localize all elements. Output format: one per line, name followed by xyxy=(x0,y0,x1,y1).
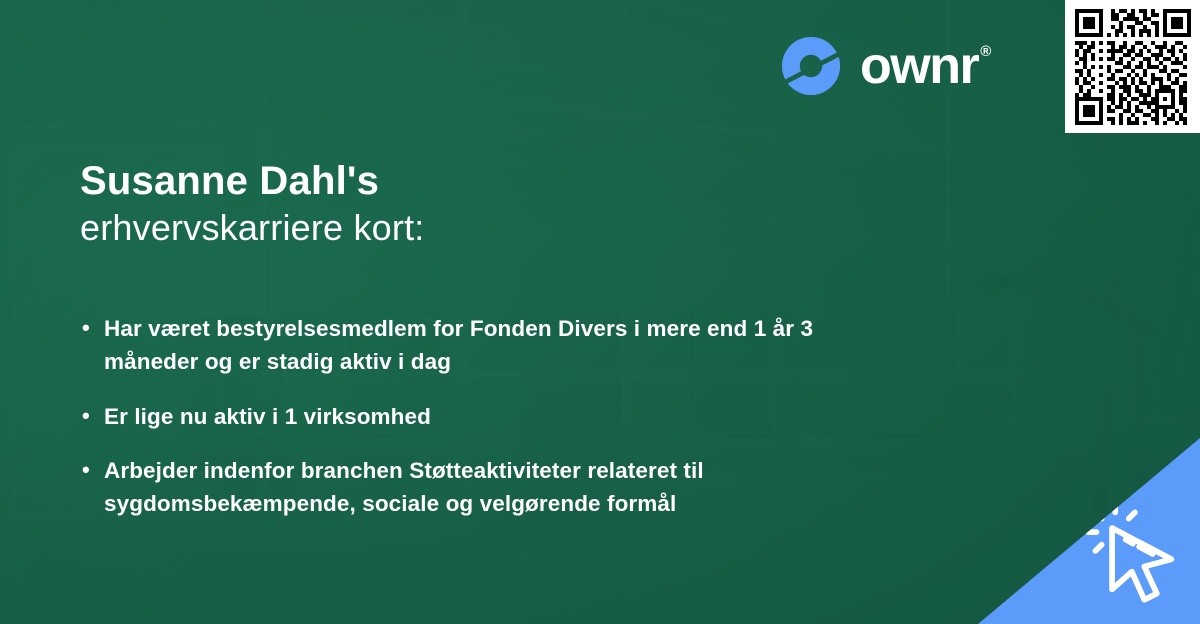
ownr-circle-swirl-icon xyxy=(778,33,844,99)
list-item: Er lige nu aktiv i 1 virksomhed xyxy=(82,400,882,433)
registered-trademark-icon: ® xyxy=(980,44,990,59)
page-title: Susanne Dahl's erhvervskarriere kort: xyxy=(80,158,860,253)
qr-code-panel[interactable] xyxy=(1065,0,1200,133)
ownr-wordmark-text: ownr xyxy=(860,40,978,92)
career-facts-list: Har været bestyrelsesmedlem for Fonden D… xyxy=(82,312,882,520)
person-name: Susanne Dahl's xyxy=(80,158,860,204)
list-item: Arbejder indenfor branchen Støtteaktivit… xyxy=(82,454,882,521)
qr-code-icon[interactable] xyxy=(1075,9,1191,125)
career-card: ownr ® Susanne Dahl's erhvervskarriere k… xyxy=(0,0,1200,624)
ownr-wordmark: ownr ® xyxy=(860,40,990,92)
list-item: Har været bestyrelsesmedlem for Fonden D… xyxy=(82,312,882,379)
ownr-logo[interactable]: ownr ® xyxy=(778,33,990,99)
subtitle: erhvervskarriere kort: xyxy=(80,204,860,253)
